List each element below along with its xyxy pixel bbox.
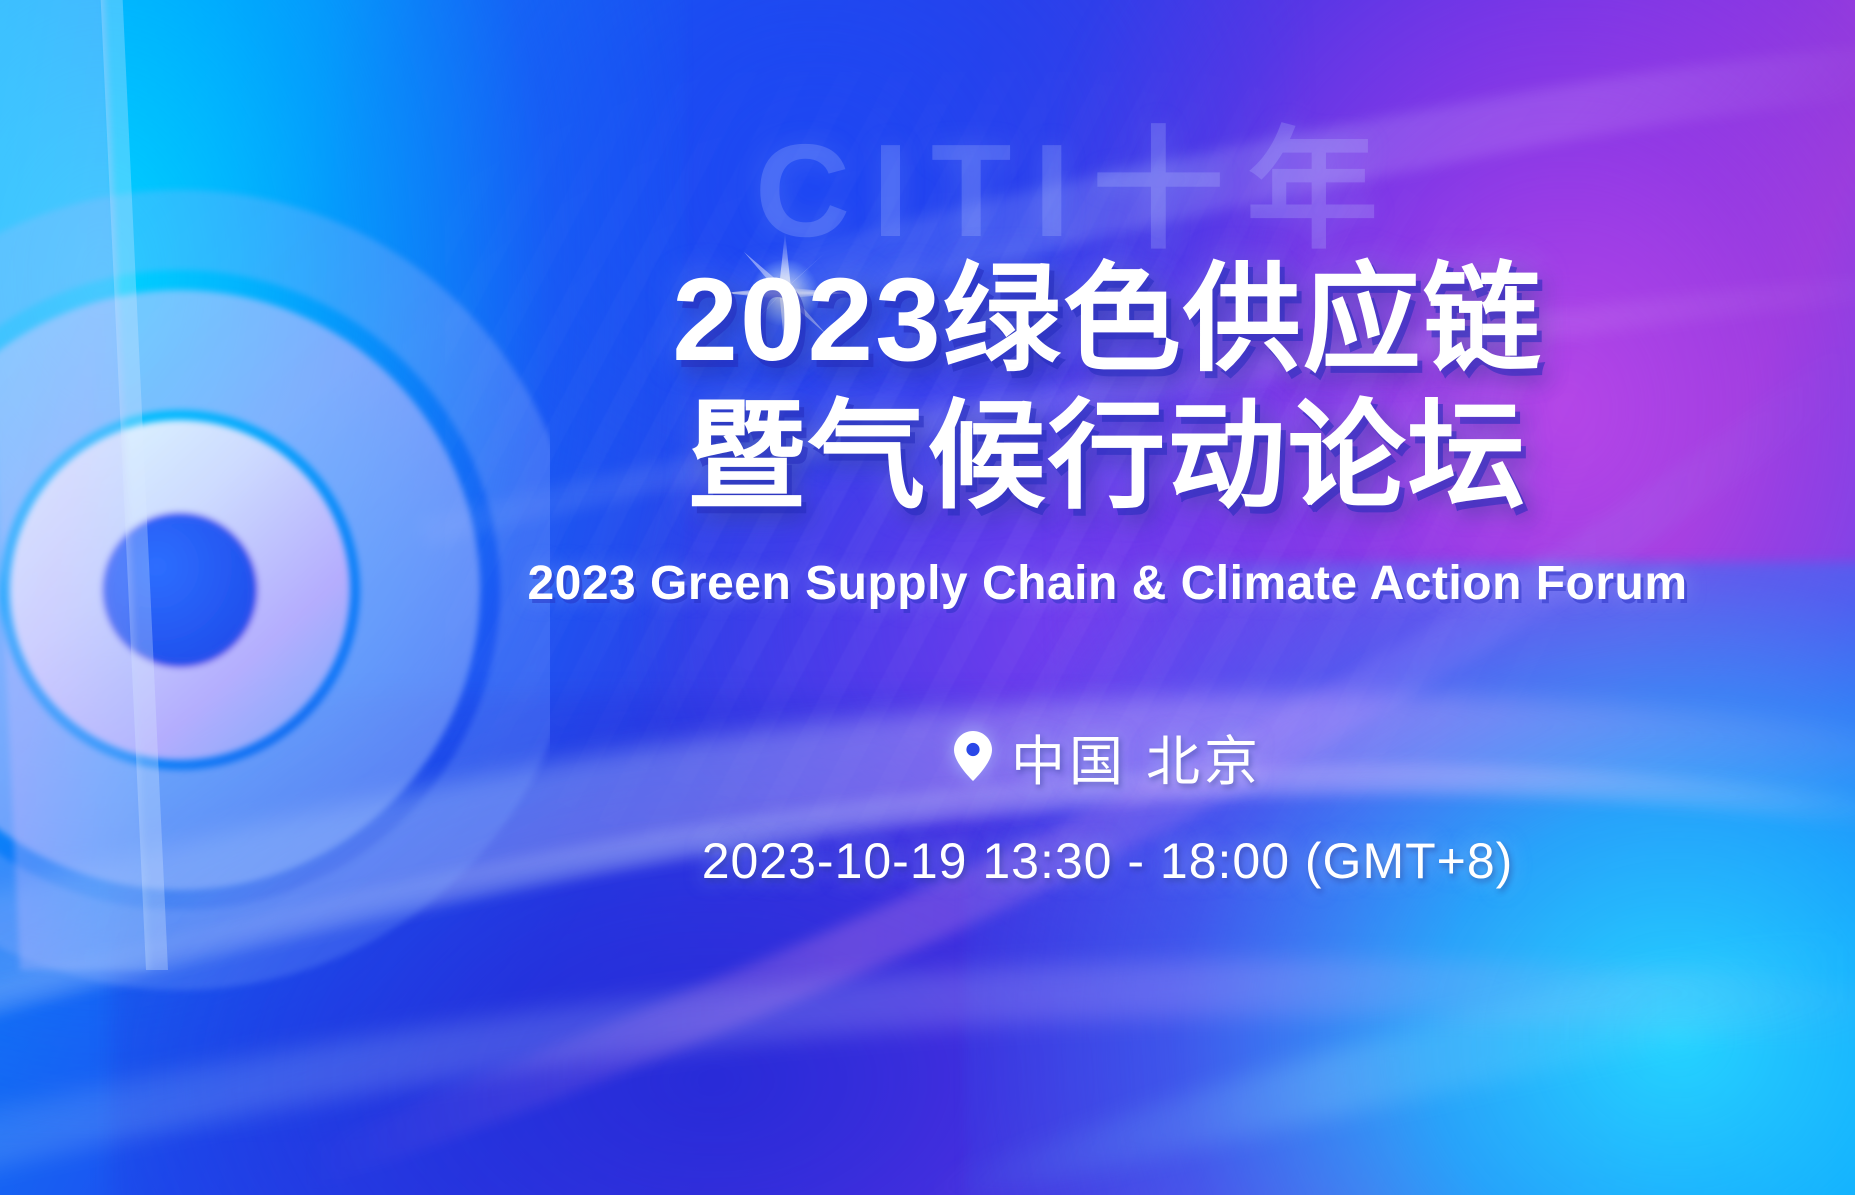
location-text: 中国 北京	[1011, 717, 1262, 796]
datetime-text: 2023-10-19 13:30 - 18:00 (GMT+8)	[702, 832, 1514, 890]
title-line-1: 2023绿色供应链	[672, 252, 1543, 389]
poster-subtitle: 2023 Green Supply Chain & Climate Action…	[527, 556, 1687, 611]
poster-title: 2023绿色供应链 暨气候行动论坛	[672, 252, 1543, 526]
title-line-2: 暨气候行动论坛	[672, 389, 1543, 526]
poster-content: 2023绿色供应链 暨气候行动论坛 2023 Green Supply Chai…	[430, 0, 1785, 1195]
location-pin-icon	[953, 730, 993, 782]
poster-meta: 中国 北京 2023-10-19 13:30 - 18:00 (GMT+8)	[702, 717, 1514, 890]
location-row: 中国 北京	[702, 717, 1514, 796]
event-poster: CITI十年	[0, 0, 1855, 1195]
